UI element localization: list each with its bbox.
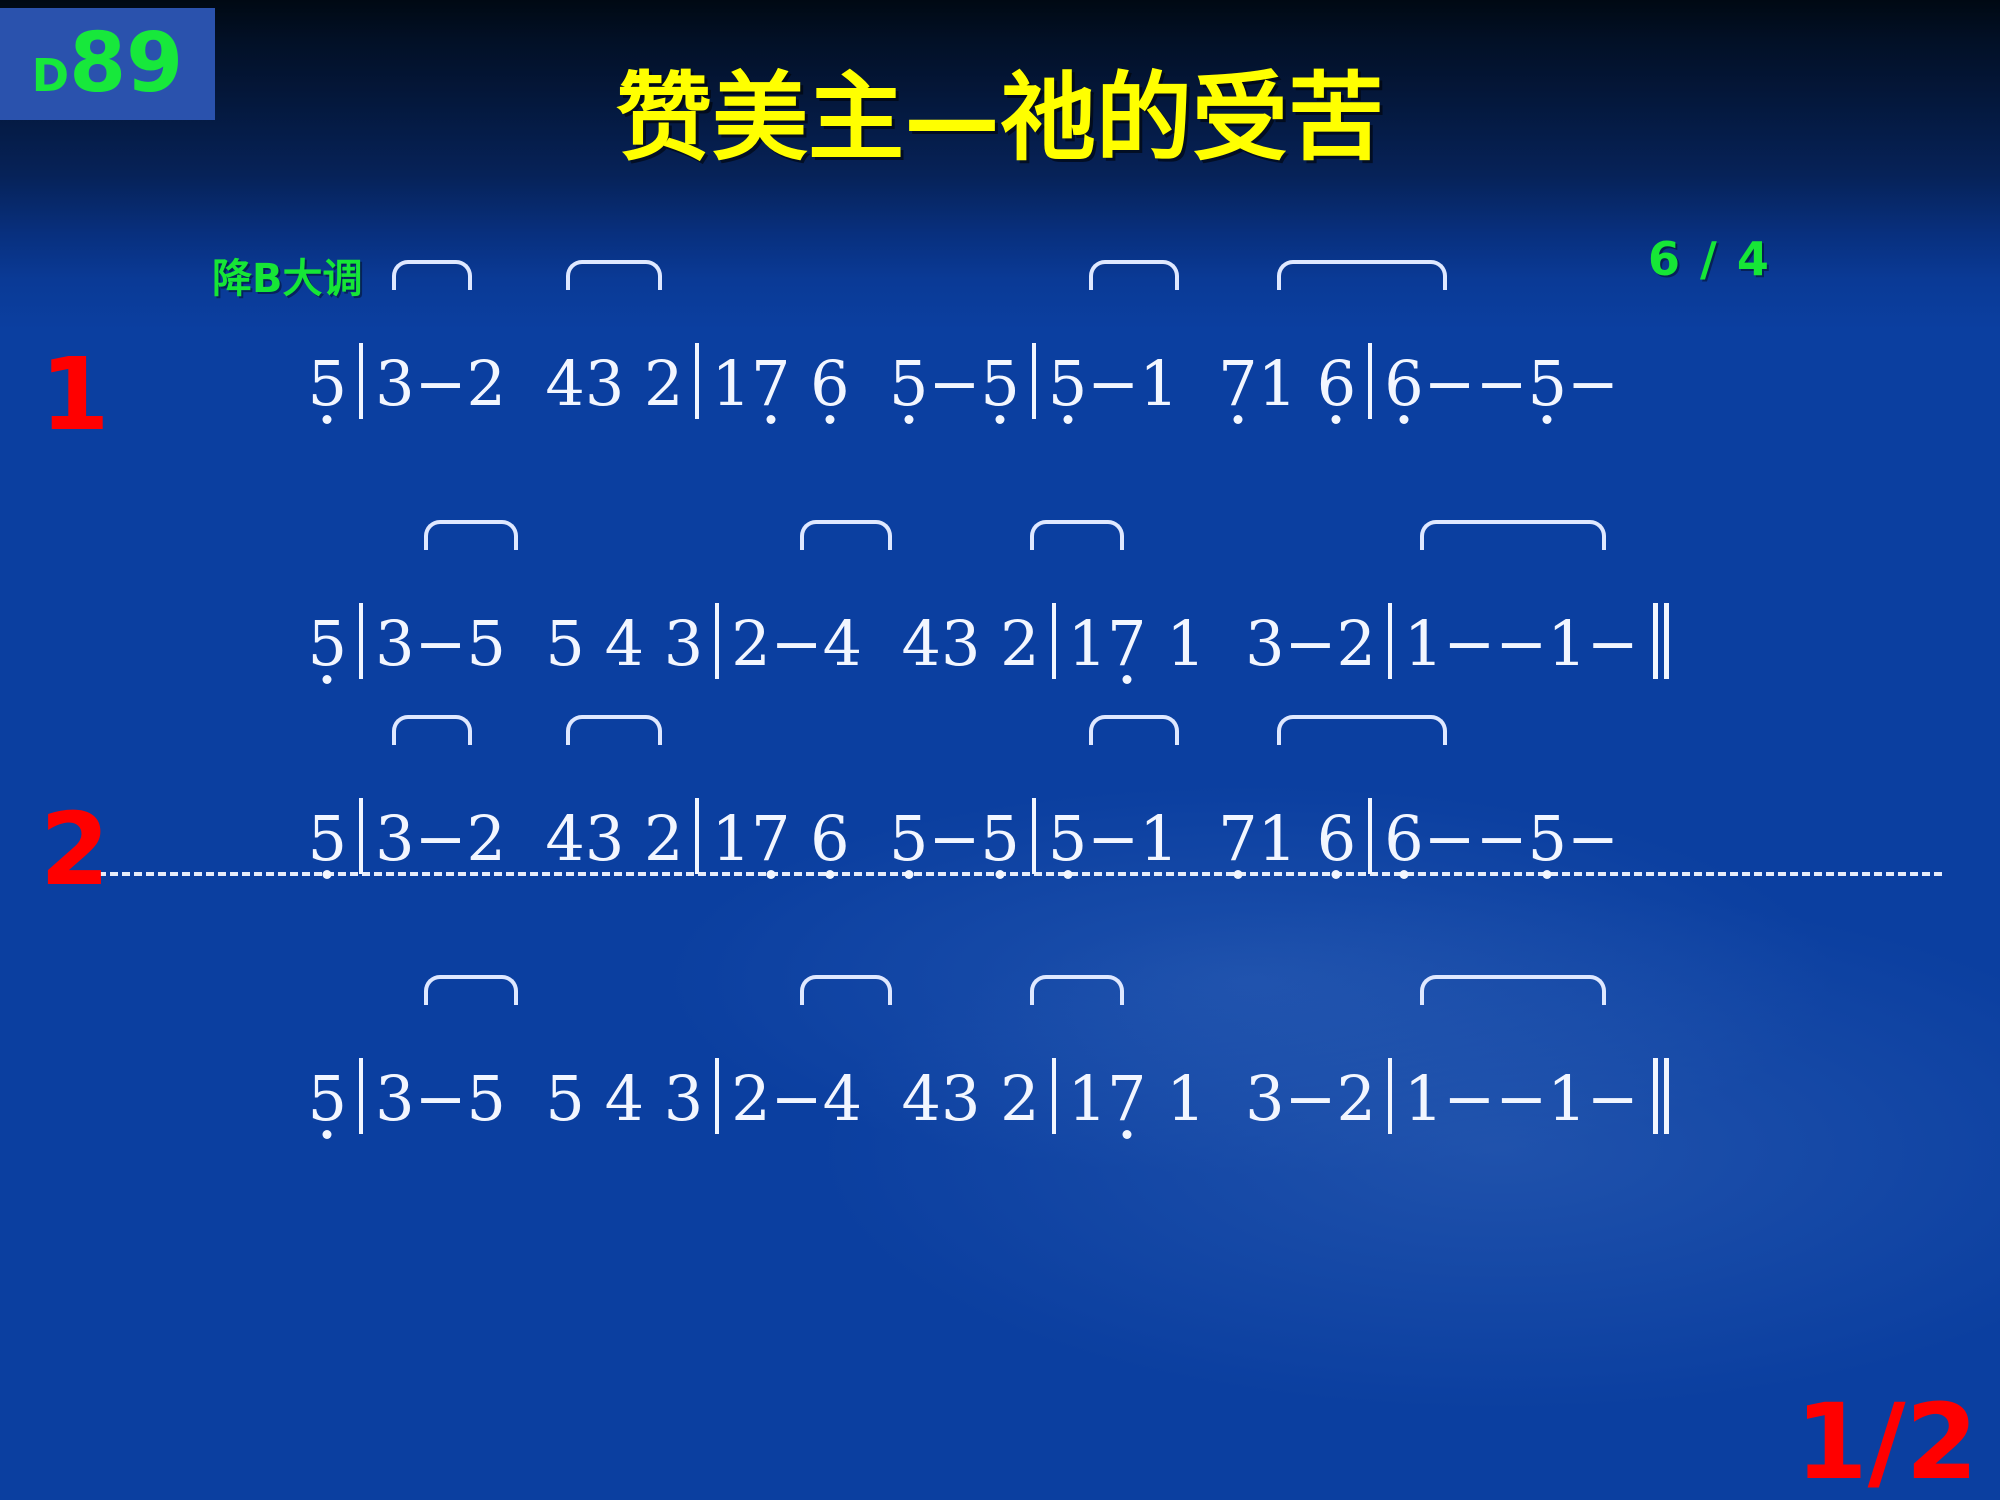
note: 2 bbox=[1336, 1062, 1375, 1135]
note: 3 bbox=[585, 802, 624, 875]
note: 7 bbox=[1107, 607, 1146, 680]
note: 1 bbox=[1139, 347, 1178, 420]
barline bbox=[715, 1058, 719, 1134]
dash: − bbox=[1567, 802, 1619, 875]
dash: − bbox=[415, 347, 467, 420]
slur-arc bbox=[424, 975, 518, 1005]
slur-arc bbox=[392, 260, 472, 290]
notation-v1-l2: 53−5 5 4 32−4 43 217 1 3−21−−1− bbox=[0, 520, 2000, 640]
note: 4 bbox=[823, 607, 862, 680]
note: 2 bbox=[1000, 1062, 1039, 1135]
notation-v2-l2: 53−5 5 4 32−4 43 217 1 3−21−−1− bbox=[0, 975, 2000, 1095]
dash: − bbox=[1285, 607, 1337, 680]
note: 5 bbox=[467, 1062, 506, 1135]
note: 1 bbox=[1404, 607, 1443, 680]
note: 6 bbox=[1384, 802, 1423, 875]
note: 5 bbox=[980, 802, 1019, 875]
note: 7 bbox=[1107, 1062, 1146, 1135]
barline bbox=[1368, 343, 1372, 419]
note: 3 bbox=[375, 607, 414, 680]
slur-arc bbox=[424, 520, 518, 550]
notation-v1-l1: 53−2 43 217 6 5−55−1 71 66−−5− bbox=[0, 260, 2000, 380]
note: 5 bbox=[308, 347, 347, 420]
barline bbox=[1368, 798, 1372, 874]
dash: − bbox=[771, 1062, 823, 1135]
barline bbox=[1052, 1058, 1056, 1134]
note: 7 bbox=[1218, 802, 1257, 875]
slur-arc bbox=[1089, 715, 1179, 745]
note: 4 bbox=[901, 607, 940, 680]
note: 6 bbox=[810, 347, 849, 420]
note: 6 bbox=[1317, 802, 1356, 875]
note: 5 bbox=[545, 607, 584, 680]
slur-arc bbox=[1030, 520, 1124, 550]
barline bbox=[695, 343, 699, 419]
note: 7 bbox=[1218, 347, 1257, 420]
slur-arc bbox=[1420, 975, 1606, 1005]
dash: − bbox=[771, 607, 823, 680]
barline bbox=[359, 343, 363, 419]
slur-arc bbox=[1277, 260, 1447, 290]
note: 3 bbox=[585, 347, 624, 420]
slur-arc bbox=[566, 715, 662, 745]
dash: − bbox=[1476, 347, 1528, 420]
double-barline bbox=[1653, 603, 1675, 679]
dash: − bbox=[1424, 802, 1476, 875]
note: 4 bbox=[901, 1062, 940, 1135]
dash: − bbox=[1424, 347, 1476, 420]
notation-v2-l1: 53−2 43 217 6 5−55−1 71 66−−5− bbox=[0, 715, 2000, 835]
note: 3 bbox=[375, 1062, 414, 1135]
note: 2 bbox=[1336, 607, 1375, 680]
note: 1 bbox=[1547, 607, 1586, 680]
note: 3 bbox=[375, 347, 414, 420]
dash: − bbox=[1495, 1062, 1547, 1135]
barline bbox=[359, 603, 363, 679]
note: 2 bbox=[731, 607, 770, 680]
note: 3 bbox=[1245, 607, 1284, 680]
note: 4 bbox=[823, 1062, 862, 1135]
note: 1 bbox=[1139, 802, 1178, 875]
slur-arc bbox=[1089, 260, 1179, 290]
note: 2 bbox=[1000, 607, 1039, 680]
verse-number-2: 2 bbox=[40, 800, 110, 900]
note: 5 bbox=[1048, 802, 1087, 875]
page-title: 赞美主—祂的受苦 bbox=[0, 68, 2000, 169]
dash: − bbox=[415, 1062, 467, 1135]
note: 3 bbox=[664, 1062, 703, 1135]
barline bbox=[1032, 343, 1036, 419]
barline bbox=[359, 798, 363, 874]
note: 5 bbox=[889, 347, 928, 420]
note: 5 bbox=[1048, 347, 1087, 420]
double-barline bbox=[1653, 1058, 1675, 1134]
dash: − bbox=[1087, 347, 1139, 420]
note: 1 bbox=[1166, 1062, 1205, 1135]
note: 2 bbox=[467, 802, 506, 875]
note: 4 bbox=[545, 802, 584, 875]
barline bbox=[1388, 1058, 1392, 1134]
note: 1 bbox=[1166, 607, 1205, 680]
barline bbox=[1032, 798, 1036, 874]
staff-row-v1-l1: 53−2 43 217 6 5−55−1 71 66−−5− bbox=[0, 260, 2000, 380]
slur-arc bbox=[1277, 715, 1447, 745]
dash: − bbox=[1285, 1062, 1337, 1135]
note: 4 bbox=[545, 347, 584, 420]
slur-arc bbox=[566, 260, 662, 290]
note: 3 bbox=[664, 607, 703, 680]
dash: − bbox=[1587, 607, 1639, 680]
note: 5 bbox=[1528, 347, 1567, 420]
slur-arc bbox=[392, 715, 472, 745]
note: 2 bbox=[467, 347, 506, 420]
slur-arc bbox=[800, 520, 892, 550]
note: 2 bbox=[644, 802, 683, 875]
slur-arc bbox=[1420, 520, 1606, 550]
note: 6 bbox=[810, 802, 849, 875]
note: 5 bbox=[545, 1062, 584, 1135]
staff-row-v2-l2: 53−5 5 4 32−4 43 217 1 3−21−−1− bbox=[0, 975, 2000, 1095]
slur-arc bbox=[1030, 975, 1124, 1005]
dash: − bbox=[1495, 607, 1547, 680]
note: 1 bbox=[1404, 1062, 1443, 1135]
note: 1 bbox=[711, 802, 750, 875]
page-indicator: 1/2 bbox=[1795, 1390, 1978, 1494]
note: 5 bbox=[1528, 802, 1567, 875]
staff-row-v1-l2: 53−5 5 4 32−4 43 217 1 3−21−−1− bbox=[0, 520, 2000, 640]
dash: − bbox=[415, 802, 467, 875]
dash: − bbox=[1476, 802, 1528, 875]
dash: − bbox=[1087, 802, 1139, 875]
slur-arc bbox=[800, 975, 892, 1005]
barline bbox=[695, 798, 699, 874]
note: 7 bbox=[751, 802, 790, 875]
dash: − bbox=[928, 347, 980, 420]
note: 7 bbox=[751, 347, 790, 420]
slide-canvas: D89 赞美主—祂的受苦 降B大调 6 / 4 53−2 43 217 6 5−… bbox=[0, 0, 2000, 1500]
note: 6 bbox=[1317, 347, 1356, 420]
verse-number-1: 1 bbox=[40, 345, 110, 445]
barline bbox=[1388, 603, 1392, 679]
barline bbox=[359, 1058, 363, 1134]
note: 1 bbox=[711, 347, 750, 420]
dash: − bbox=[1443, 1062, 1495, 1135]
note: 1 bbox=[1258, 802, 1297, 875]
note: 2 bbox=[731, 1062, 770, 1135]
note: 4 bbox=[605, 1062, 644, 1135]
note: 3 bbox=[1245, 1062, 1284, 1135]
note: 3 bbox=[375, 802, 414, 875]
note: 5 bbox=[467, 607, 506, 680]
note: 1 bbox=[1068, 1062, 1107, 1135]
dash: − bbox=[1587, 1062, 1639, 1135]
barline bbox=[1052, 603, 1056, 679]
note: 1 bbox=[1547, 1062, 1586, 1135]
dash: − bbox=[1567, 347, 1619, 420]
note: 4 bbox=[605, 607, 644, 680]
note: 6 bbox=[1384, 347, 1423, 420]
note: 3 bbox=[941, 1062, 980, 1135]
note: 5 bbox=[308, 1062, 347, 1135]
note: 5 bbox=[980, 347, 1019, 420]
staff-row-v2-l1: 53−2 43 217 6 5−55−1 71 66−−5− bbox=[0, 715, 2000, 835]
dash: − bbox=[1443, 607, 1495, 680]
note: 5 bbox=[308, 607, 347, 680]
note: 3 bbox=[941, 607, 980, 680]
note: 1 bbox=[1068, 607, 1107, 680]
note: 5 bbox=[308, 802, 347, 875]
dash: − bbox=[415, 607, 467, 680]
barline bbox=[715, 603, 719, 679]
note: 2 bbox=[644, 347, 683, 420]
note: 1 bbox=[1258, 347, 1297, 420]
dash: − bbox=[928, 802, 980, 875]
note: 5 bbox=[889, 802, 928, 875]
